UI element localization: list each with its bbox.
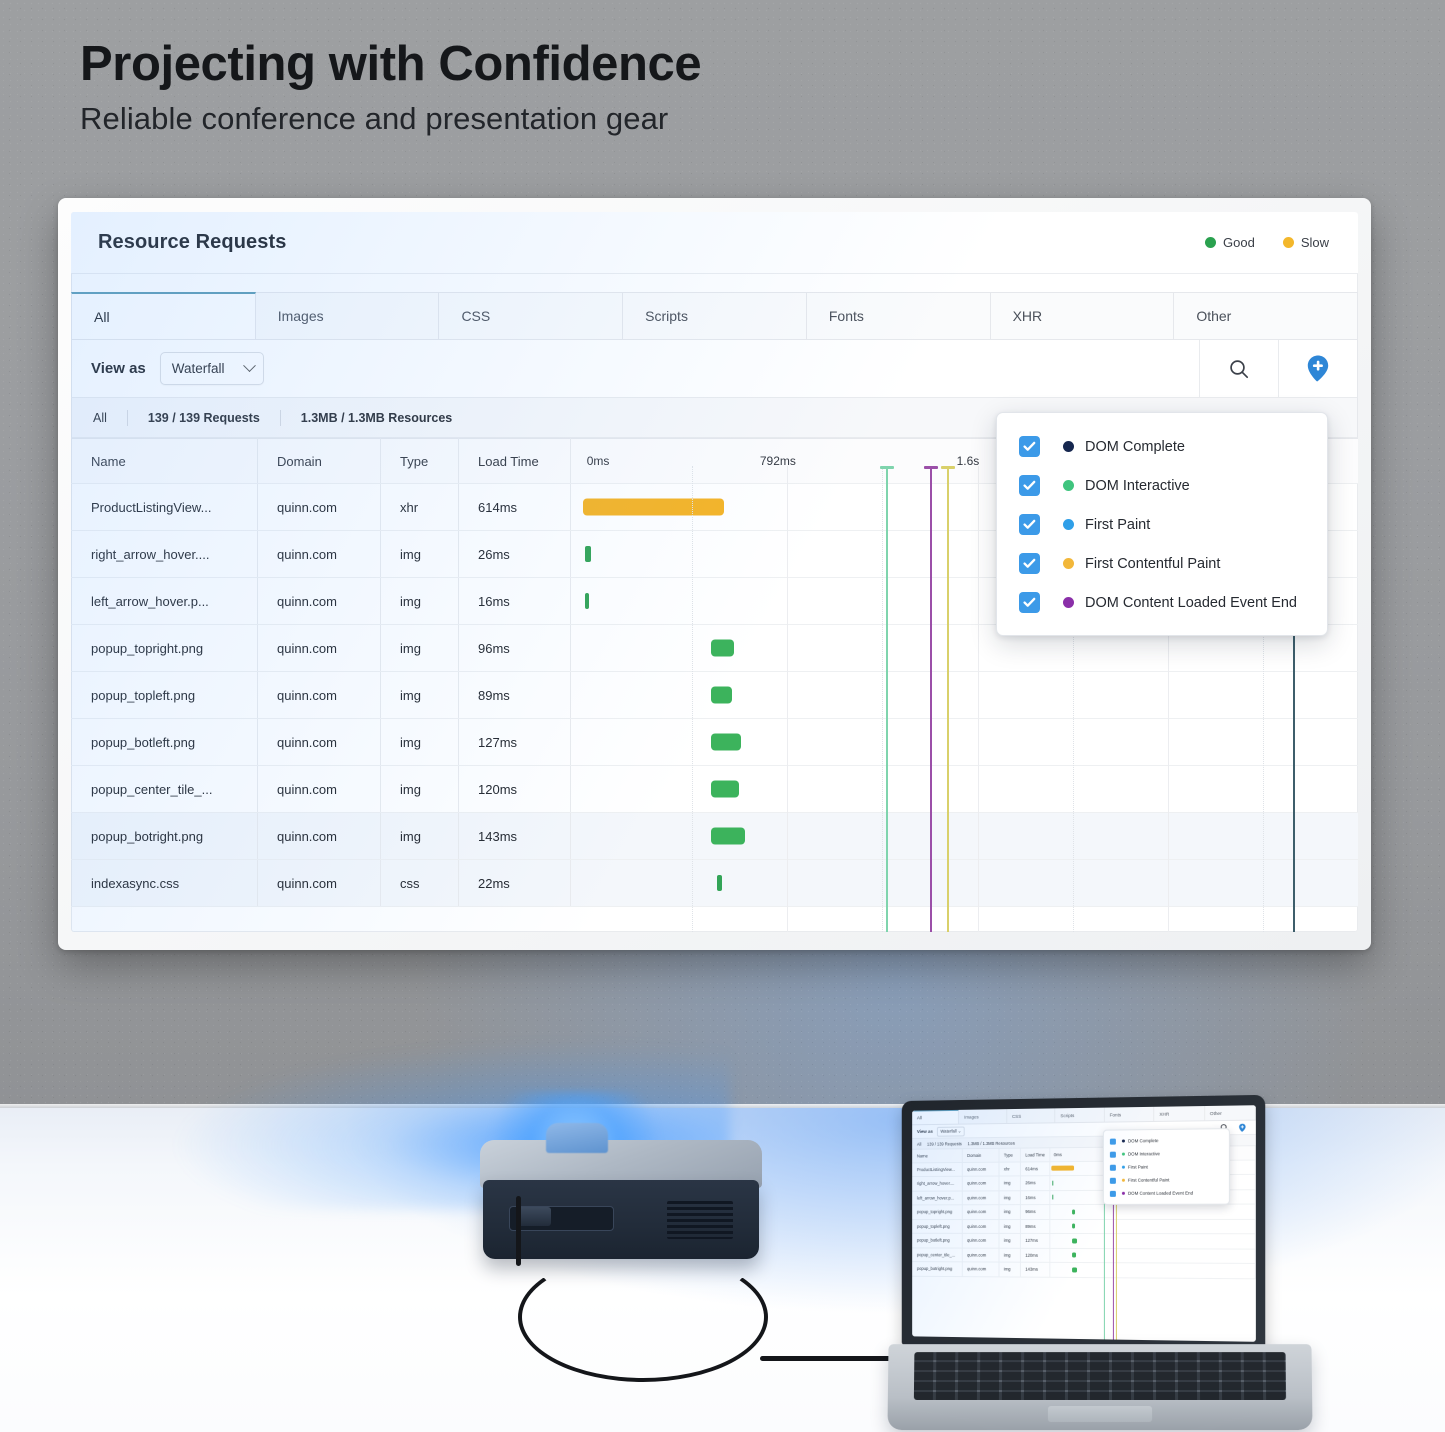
legend-label-slow: Slow: [1301, 235, 1329, 250]
laptop-base: [887, 1344, 1312, 1430]
search-button[interactable]: [1199, 340, 1278, 397]
cell-name: popup_botleft.png: [72, 719, 258, 766]
cable-lead: [516, 1196, 521, 1266]
product-scene: Projecting with Confidence Reliable conf…: [0, 0, 1445, 1432]
laptop-dropdown-option: First Contentful Paint: [1104, 1173, 1229, 1187]
legend-label-good: Good: [1223, 235, 1255, 250]
cell-waterfall: [571, 860, 1359, 907]
dropdown-option-label: First Paint: [1085, 517, 1150, 533]
cell-load-time: 16ms: [459, 578, 571, 625]
laptop-marker-dot: [1122, 1139, 1125, 1142]
checkbox-checked[interactable]: [1019, 436, 1040, 457]
hero-title: Projecting with Confidence: [80, 38, 980, 91]
cell-waterfall: [571, 766, 1359, 813]
tab-label: Other: [1196, 308, 1231, 324]
checkbox-checked[interactable]: [1019, 553, 1040, 574]
marker-color-dot: [1063, 441, 1074, 452]
laptop-tab: CSS: [1007, 1108, 1055, 1123]
waterfall-bar: [711, 640, 734, 657]
stats-resources: 1.3MB / 1.3MB Resources: [301, 411, 452, 425]
slow-status-dot: [1283, 237, 1294, 248]
projector-body: [483, 1180, 759, 1259]
view-as-value: Waterfall: [172, 361, 225, 376]
search-icon: [1227, 357, 1251, 381]
col-header-name[interactable]: Name: [72, 439, 258, 484]
projector-cable-plug: [517, 1207, 551, 1226]
waterfall-bar: [711, 734, 741, 751]
laptop-dropdown-option: DOM Content Loaded Event End: [1104, 1186, 1229, 1200]
legend-item-slow: Slow: [1283, 235, 1329, 250]
cell-domain: quinn.com: [258, 531, 381, 578]
laptop-marker-icon: [1238, 1122, 1246, 1132]
cell-waterfall: [571, 672, 1359, 719]
laptop-table-row: popup_botright.pngquinn.comimg143ms: [912, 1262, 1255, 1279]
projection-screen: Resource Requests Good Slow All Images C…: [58, 198, 1371, 950]
cell-name: indexasync.css: [72, 860, 258, 907]
waterfall-bar: [585, 546, 591, 562]
table-row[interactable]: popup_center_tile_... quinn.com img 120m…: [72, 766, 1359, 813]
waterfall-bar: [717, 875, 722, 891]
cell-name: popup_botright.png: [72, 813, 258, 860]
tab-fonts[interactable]: Fonts: [807, 292, 991, 339]
dropdown-option[interactable]: First Contentful Paint: [997, 544, 1327, 583]
cell-load-time: 22ms: [459, 860, 571, 907]
cell-name: right_arrow_hover....: [72, 531, 258, 578]
laptop-mirrored-app: AllImagesCSSScriptsFontsXHROtherView asW…: [912, 1105, 1256, 1342]
laptop: AllImagesCSSScriptsFontsXHROtherView asW…: [888, 1098, 1318, 1432]
hero-subtitle: Reliable conference and presentation gea…: [80, 101, 980, 137]
laptop-marker-dot: [1122, 1192, 1125, 1195]
laptop-checkbox: [1110, 1190, 1116, 1196]
marker-color-dot: [1063, 558, 1074, 569]
tab-label: Scripts: [645, 308, 688, 324]
table-row[interactable]: popup_topleft.png quinn.com img 89ms: [72, 672, 1359, 719]
tab-all[interactable]: All: [71, 292, 256, 339]
cell-domain: quinn.com: [258, 578, 381, 625]
laptop-tab: Scripts: [1056, 1108, 1105, 1123]
laptop-checkbox: [1110, 1138, 1116, 1144]
cell-waterfall: [571, 813, 1359, 860]
projector: [480, 1140, 762, 1263]
waterfall-bar: [711, 828, 745, 845]
add-marker-pin-icon: [1305, 354, 1331, 384]
cell-domain: quinn.com: [258, 860, 381, 907]
cell-name: popup_topleft.png: [72, 672, 258, 719]
laptop-tab: Other: [1205, 1105, 1256, 1120]
marker-color-dot: [1063, 597, 1074, 608]
cell-type: css: [381, 860, 459, 907]
waterfall-bar: [711, 687, 731, 704]
dropdown-option-label: DOM Content Loaded Event End: [1085, 595, 1297, 611]
dropdown-option[interactable]: DOM Interactive: [997, 466, 1327, 505]
laptop-tab: Images: [959, 1109, 1007, 1124]
cell-name: popup_center_tile_...: [72, 766, 258, 813]
legend-item-good: Good: [1205, 235, 1255, 250]
checkbox-checked[interactable]: [1019, 475, 1040, 496]
tab-xhr[interactable]: XHR: [991, 292, 1175, 339]
tab-css[interactable]: CSS: [439, 292, 623, 339]
cell-load-time: 143ms: [459, 813, 571, 860]
tab-label: Images: [278, 308, 324, 324]
projector-vents: [667, 1201, 733, 1239]
tab-label: All: [94, 309, 110, 325]
tab-scripts[interactable]: Scripts: [623, 292, 807, 339]
good-status-dot: [1205, 237, 1216, 248]
cell-domain: quinn.com: [258, 719, 381, 766]
tab-images[interactable]: Images: [256, 292, 440, 339]
marker-color-dot: [1063, 519, 1074, 530]
cell-type: img: [381, 578, 459, 625]
laptop-dropdown-option: DOM Interactive: [1104, 1146, 1229, 1160]
cell-load-time: 614ms: [459, 484, 571, 531]
dropdown-option-label: DOM Complete: [1085, 439, 1185, 455]
laptop-checkbox: [1110, 1164, 1116, 1170]
laptop-tab: Fonts: [1105, 1107, 1155, 1122]
laptop-tab: All: [912, 1110, 959, 1124]
cell-type: img: [381, 719, 459, 766]
tab-label: Fonts: [829, 308, 864, 324]
chevron-down-icon: [243, 359, 256, 372]
dropdown-option[interactable]: DOM Complete: [997, 427, 1327, 466]
view-as-label: View as: [91, 360, 146, 377]
tab-label: XHR: [1013, 308, 1043, 324]
tab-label: CSS: [461, 308, 490, 324]
laptop-tab: XHR: [1154, 1106, 1204, 1121]
status-legend: Good Slow: [1205, 235, 1329, 250]
view-as-select[interactable]: Waterfall: [160, 352, 264, 385]
cell-load-time: 96ms: [459, 625, 571, 672]
marker-color-dot: [1063, 480, 1074, 491]
stats-divider: [280, 410, 281, 426]
timeline-tick: 1.6s: [957, 454, 980, 468]
cell-type: xhr: [381, 484, 459, 531]
timing-markers-dropdown[interactable]: DOM CompleteDOM InteractiveFirst PaintFi…: [996, 412, 1328, 636]
stats-requests: 139 / 139 Requests: [148, 411, 260, 425]
dropdown-option[interactable]: First Paint: [997, 505, 1327, 544]
laptop-table-row: popup_topleft.pngquinn.comimg89ms: [912, 1219, 1255, 1234]
waterfall-bar: [711, 781, 739, 798]
laptop-checkbox: [1110, 1151, 1116, 1157]
table-row[interactable]: popup_botleft.png quinn.com img 127ms: [72, 719, 1359, 766]
cell-load-time: 120ms: [459, 766, 571, 813]
timeline-tick: 0ms: [587, 454, 610, 468]
laptop-marker-dot: [1122, 1153, 1125, 1156]
laptop-trackpad: [1048, 1406, 1152, 1422]
checkbox-checked[interactable]: [1019, 514, 1040, 535]
cell-type: img: [381, 813, 459, 860]
cell-type: img: [381, 531, 459, 578]
stats-divider: [127, 410, 128, 426]
cell-domain: quinn.com: [258, 484, 381, 531]
laptop-checkbox: [1110, 1177, 1116, 1183]
tab-other[interactable]: Other: [1174, 292, 1358, 339]
cell-type: img: [381, 672, 459, 719]
cell-name: popup_topright.png: [72, 625, 258, 672]
laptop-screen: AllImagesCSSScriptsFontsXHROtherView asW…: [912, 1105, 1256, 1342]
col-header-type[interactable]: Type: [381, 439, 459, 484]
cell-type: img: [381, 625, 459, 672]
cell-load-time: 26ms: [459, 531, 571, 578]
laptop-table-row: popup_topright.pngquinn.comimg96ms: [912, 1204, 1255, 1219]
waterfall-bar: [585, 593, 589, 609]
table-row[interactable]: popup_botright.png quinn.com img 143ms: [72, 813, 1359, 860]
cell-name: ProductListingView...: [72, 484, 258, 531]
page-title: Resource Requests: [98, 231, 286, 254]
app-header: Resource Requests Good Slow: [71, 212, 1358, 274]
cell-name: left_arrow_hover.p...: [72, 578, 258, 625]
laptop-dropdown-option: DOM Complete: [1104, 1133, 1229, 1148]
laptop-dropdown-option: First Paint: [1104, 1160, 1229, 1174]
table-row[interactable]: indexasync.css quinn.com css 22ms: [72, 860, 1359, 907]
stats-scope: All: [93, 411, 107, 425]
hero-text-block: Projecting with Confidence Reliable conf…: [80, 38, 980, 137]
dropdown-option-label: DOM Interactive: [1085, 478, 1190, 494]
filter-tabs[interactable]: All Images CSS Scripts Fonts XHR Other: [71, 292, 1358, 340]
cell-load-time: 127ms: [459, 719, 571, 766]
laptop-marker-dot: [1122, 1166, 1125, 1169]
col-header-domain[interactable]: Domain: [258, 439, 381, 484]
cell-domain: quinn.com: [258, 672, 381, 719]
cell-waterfall: [571, 719, 1359, 766]
laptop-lid: AllImagesCSSScriptsFontsXHROtherView asW…: [902, 1095, 1265, 1351]
timeline-tick: 792ms: [760, 454, 796, 468]
cell-load-time: 89ms: [459, 672, 571, 719]
cell-domain: quinn.com: [258, 813, 381, 860]
add-marker-button[interactable]: [1278, 340, 1357, 397]
laptop-keyboard: [914, 1352, 1286, 1400]
dropdown-option-label: First Contentful Paint: [1085, 556, 1220, 572]
checkbox-checked[interactable]: [1019, 592, 1040, 613]
cell-type: img: [381, 766, 459, 813]
cell-domain: quinn.com: [258, 766, 381, 813]
projected-app-window: Resource Requests Good Slow All Images C…: [71, 212, 1358, 932]
waterfall-bar: [583, 499, 725, 516]
view-toolbar: View as Waterfall: [71, 340, 1358, 398]
laptop-marker-dot: [1122, 1179, 1125, 1182]
laptop-table-row: popup_botleft.pngquinn.comimg127ms: [912, 1233, 1255, 1248]
col-header-load-time[interactable]: Load Time: [459, 439, 571, 484]
cell-domain: quinn.com: [258, 625, 381, 672]
dropdown-option[interactable]: DOM Content Loaded Event End: [997, 583, 1327, 622]
projector-lens: [546, 1123, 608, 1153]
laptop-dropdown: DOM CompleteDOM InteractiveFirst PaintFi…: [1103, 1128, 1230, 1205]
